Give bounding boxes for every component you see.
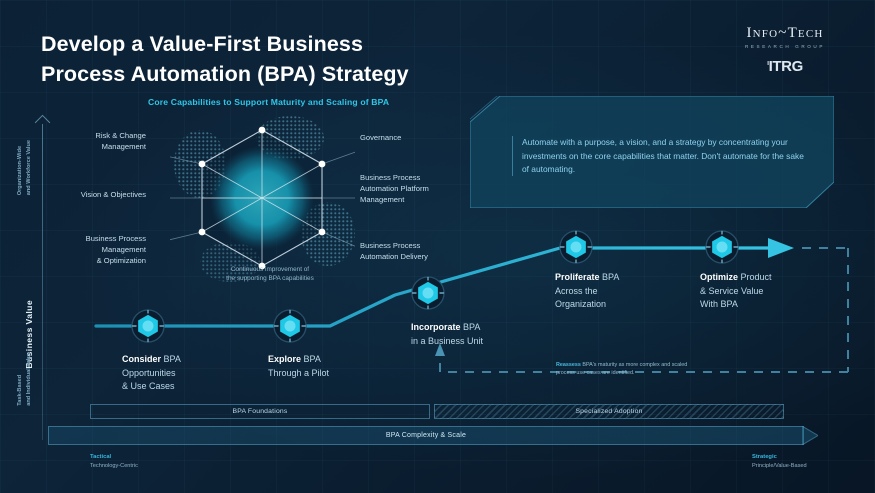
axis-label-top: Organization-Wide and Workforce Value bbox=[16, 140, 34, 195]
journey-label-consider-bold: Consider bbox=[122, 354, 161, 364]
journey-label-optimize-rest: Product bbox=[738, 272, 772, 282]
page-title: Develop a Value-First Business Process A… bbox=[41, 30, 409, 89]
segment-specialized-adoption: Specialized Adoption bbox=[434, 404, 784, 419]
infographic-canvas: Develop a Value-First Business Process A… bbox=[0, 0, 875, 493]
capabilities-caption: Continuous improvement of the supporting… bbox=[205, 266, 335, 283]
journey-label-incorporate-bold: Incorporate bbox=[411, 322, 461, 332]
scale-endpoint-strategic: Strategic Principle/Value-Based bbox=[752, 453, 807, 470]
logo-itrg: ıITRG bbox=[725, 58, 845, 75]
journey-label-optimize: Optimize Product & Service Value With BP… bbox=[700, 271, 815, 312]
scale-endpoint-tactical-sub: Technology-Centric bbox=[90, 463, 138, 469]
scale-endpoint-strategic-title: Strategic bbox=[752, 453, 807, 462]
reassess-annotation: Reassess BPA's maturity as more complex … bbox=[556, 361, 706, 377]
journey-label-consider: Consider BPA Opportunities & Use Cases bbox=[122, 353, 237, 394]
journey-label-proliferate: Proliferate BPA Across the Organization bbox=[555, 271, 670, 312]
business-value-axis bbox=[38, 124, 52, 440]
callout-panel: Automate with a purpose, a vision, and a… bbox=[470, 96, 834, 208]
complexity-scale-arrow-icon bbox=[802, 426, 818, 445]
journey-node-consider[interactable] bbox=[131, 309, 165, 343]
journey-label-optimize-line3: With BPA bbox=[700, 298, 815, 312]
journey-label-incorporate-line2: in a Business Unit bbox=[411, 335, 531, 349]
journey-label-optimize-bold: Optimize bbox=[700, 272, 738, 282]
complexity-scale-body: BPA Complexity & Scale bbox=[48, 426, 804, 445]
capabilities-caption-line-1: Continuous improvement of bbox=[205, 266, 335, 275]
capability-label-bpa-platform-management: Business Process Automation Platform Man… bbox=[360, 173, 470, 205]
complexity-scale-bar: BPA Complexity & Scale bbox=[48, 426, 818, 445]
capabilities-hexagon bbox=[170, 112, 355, 287]
capability-label-vision-objectives: Vision & Objectives bbox=[56, 190, 146, 201]
page-title-line-2: Process Automation (BPA) Strategy bbox=[41, 60, 409, 90]
journey-label-consider-line3: & Use Cases bbox=[122, 380, 237, 394]
segment-bpa-foundations: BPA Foundations bbox=[90, 404, 430, 419]
callout-text: Automate with a purpose, a vision, and a… bbox=[522, 136, 812, 177]
page-title-line-1: Develop a Value-First Business bbox=[41, 30, 409, 60]
reassess-annotation-bold: Reassess bbox=[556, 362, 581, 368]
journey-label-incorporate: Incorporate BPA in a Business Unit bbox=[411, 321, 531, 348]
journey-label-proliferate-line2: Across the bbox=[555, 285, 670, 299]
journey-label-explore-rest: BPA bbox=[301, 354, 321, 364]
segment-specialized-adoption-label: Specialized Adoption bbox=[575, 408, 642, 415]
axis-arrow-icon bbox=[35, 115, 51, 131]
journey-label-consider-line2: Opportunities bbox=[122, 367, 237, 381]
journey-label-proliferate-rest: BPA bbox=[600, 272, 620, 282]
journey-label-incorporate-rest: BPA bbox=[461, 322, 481, 332]
scale-endpoint-tactical: Tactical Technology-Centric bbox=[90, 453, 138, 470]
journey-node-optimize[interactable] bbox=[705, 230, 739, 264]
complexity-scale-label: BPA Complexity & Scale bbox=[386, 432, 466, 439]
capability-label-bpa-delivery: Business Process Automation Delivery bbox=[360, 241, 470, 263]
scale-endpoint-tactical-title: Tactical bbox=[90, 453, 138, 462]
axis-line bbox=[42, 124, 43, 440]
journey-label-consider-rest: BPA bbox=[161, 354, 181, 364]
capability-label-governance: Governance bbox=[360, 133, 470, 144]
capabilities-caption-line-2: the supporting BPA capabilities bbox=[205, 275, 335, 284]
logo-tagline: RESEARCH GROUP bbox=[725, 44, 845, 49]
capabilities-heading: Core Capabilities to Support Maturity an… bbox=[148, 97, 389, 107]
journey-label-proliferate-line3: Organization bbox=[555, 298, 670, 312]
journey-label-explore-bold: Explore bbox=[268, 354, 301, 364]
capability-label-risk-change-management: Risk & Change Management bbox=[72, 131, 146, 153]
journey-label-proliferate-bold: Proliferate bbox=[555, 272, 600, 282]
brand-logo: Info~Tech RESEARCH GROUP ıITRG bbox=[725, 26, 845, 75]
axis-label-bottom: Task-Based and Individual Value bbox=[16, 352, 34, 406]
journey-node-incorporate[interactable] bbox=[411, 276, 445, 310]
scale-endpoint-strategic-sub: Principle/Value-Based bbox=[752, 463, 807, 469]
capability-label-bpm-optimization: Business Process Management & Optimizati… bbox=[64, 234, 146, 266]
logo-itrg-text: ITRG bbox=[769, 58, 803, 75]
journey-node-proliferate[interactable] bbox=[559, 230, 593, 264]
callout-accent-bar bbox=[512, 136, 513, 176]
journey-label-optimize-line2: & Service Value bbox=[700, 285, 815, 299]
journey-label-explore-line2: Through a Pilot bbox=[268, 367, 383, 381]
journey-label-explore: Explore BPA Through a Pilot bbox=[268, 353, 383, 380]
segment-bpa-foundations-label: BPA Foundations bbox=[232, 408, 287, 415]
journey-node-explore[interactable] bbox=[273, 309, 307, 343]
logo-wordmark: Info~Tech bbox=[725, 26, 845, 41]
